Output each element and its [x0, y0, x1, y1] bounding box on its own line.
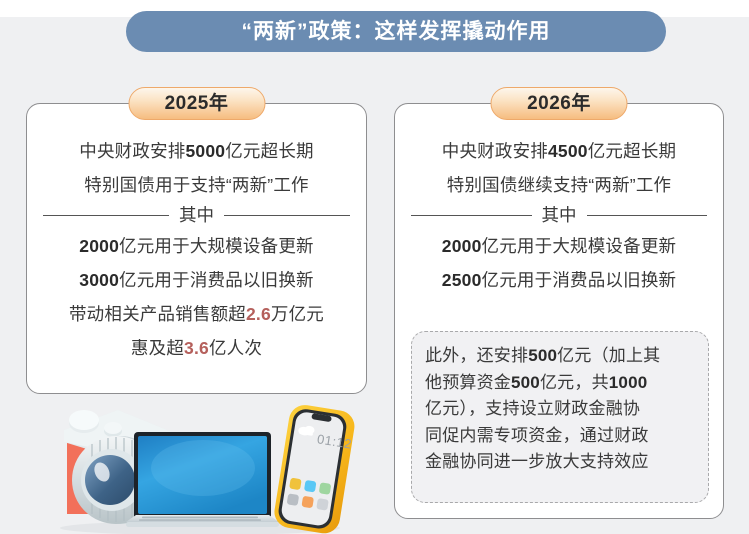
year-badge-label: 2026年: [527, 94, 591, 113]
note-line-1: 此外，还安排500亿元（加上其: [425, 343, 695, 370]
year-badge-2025: 2025年: [128, 87, 265, 120]
laptop-illustration: [126, 432, 279, 527]
note-line-2: 他预算资金500亿元，共1000: [425, 370, 695, 397]
note-line-5: 金融协同进一步放大支持效应: [425, 449, 695, 476]
panel-2026-line-1: 中央财政安排4500亿元超长期: [409, 134, 709, 168]
panel-2026-note-box: 此外，还安排500亿元（加上其 他预算资金500亿元，共1000 亿元），支持设…: [411, 331, 709, 503]
infographic-canvas: “两新”政策：这样发挥撬动作用 2025年 中央财政安排5000亿元超长期 特别…: [0, 0, 749, 534]
divider-rule-left: [411, 215, 532, 216]
header-banner: “两新”政策：这样发挥撬动作用: [126, 11, 666, 52]
panel-2026: 2026年 中央财政安排4500亿元超长期 特别国债继续支持“两新”工作 其中 …: [394, 103, 724, 519]
divider-label: 其中: [179, 207, 214, 225]
note-line-4: 同促内需专项资金，通过财政: [425, 423, 695, 450]
panel-2025-body: 中央财政安排5000亿元超长期 特别国债用于支持“两新”工作 其中 2000亿元…: [27, 134, 366, 365]
divider-rule-right: [587, 215, 708, 216]
page-title: “两新”政策：这样发挥撬动作用: [242, 21, 551, 42]
panel-2026-body: 中央财政安排4500亿元超长期 特别国债继续支持“两新”工作 其中 2000亿元…: [395, 134, 723, 297]
panel-2025-divider: 其中: [43, 207, 350, 225]
panel-2025-detail-3: 带动相关产品销售额超2.6万亿元: [41, 297, 352, 331]
divider-rule-right: [224, 215, 350, 216]
year-badge-label: 2025年: [165, 94, 229, 113]
divider-rule-left: [43, 215, 169, 216]
divider-label: 其中: [542, 207, 577, 225]
panel-2026-detail-2: 2500亿元用于消费品以旧换新: [409, 263, 709, 297]
panel-2025-detail-2: 3000亿元用于消费品以旧换新: [41, 263, 352, 297]
panel-2025: 2025年 中央财政安排5000亿元超长期 特别国债用于支持“两新”工作 其中 …: [26, 103, 367, 394]
panel-2025-detail-1: 2000亿元用于大规模设备更新: [41, 229, 352, 263]
note-line-3: 亿元），支持设立财政金融协: [425, 396, 695, 423]
panel-2025-line-1: 中央财政安排5000亿元超长期: [41, 134, 352, 168]
panel-2026-divider: 其中: [411, 207, 707, 225]
camera-lens-glass: [85, 455, 135, 505]
consumer-electronics-illustration: 01:12: [20, 396, 375, 534]
year-badge-2026: 2026年: [491, 87, 628, 120]
panel-2025-detail-4: 惠及超3.6亿人次: [41, 331, 352, 365]
panel-2026-line-2: 特别国债继续支持“两新”工作: [409, 168, 709, 202]
panel-2026-detail-1: 2000亿元用于大规模设备更新: [409, 229, 709, 263]
smartphone-illustration: 01:12: [272, 403, 357, 534]
panel-2025-line-2: 特别国债用于支持“两新”工作: [41, 168, 352, 202]
